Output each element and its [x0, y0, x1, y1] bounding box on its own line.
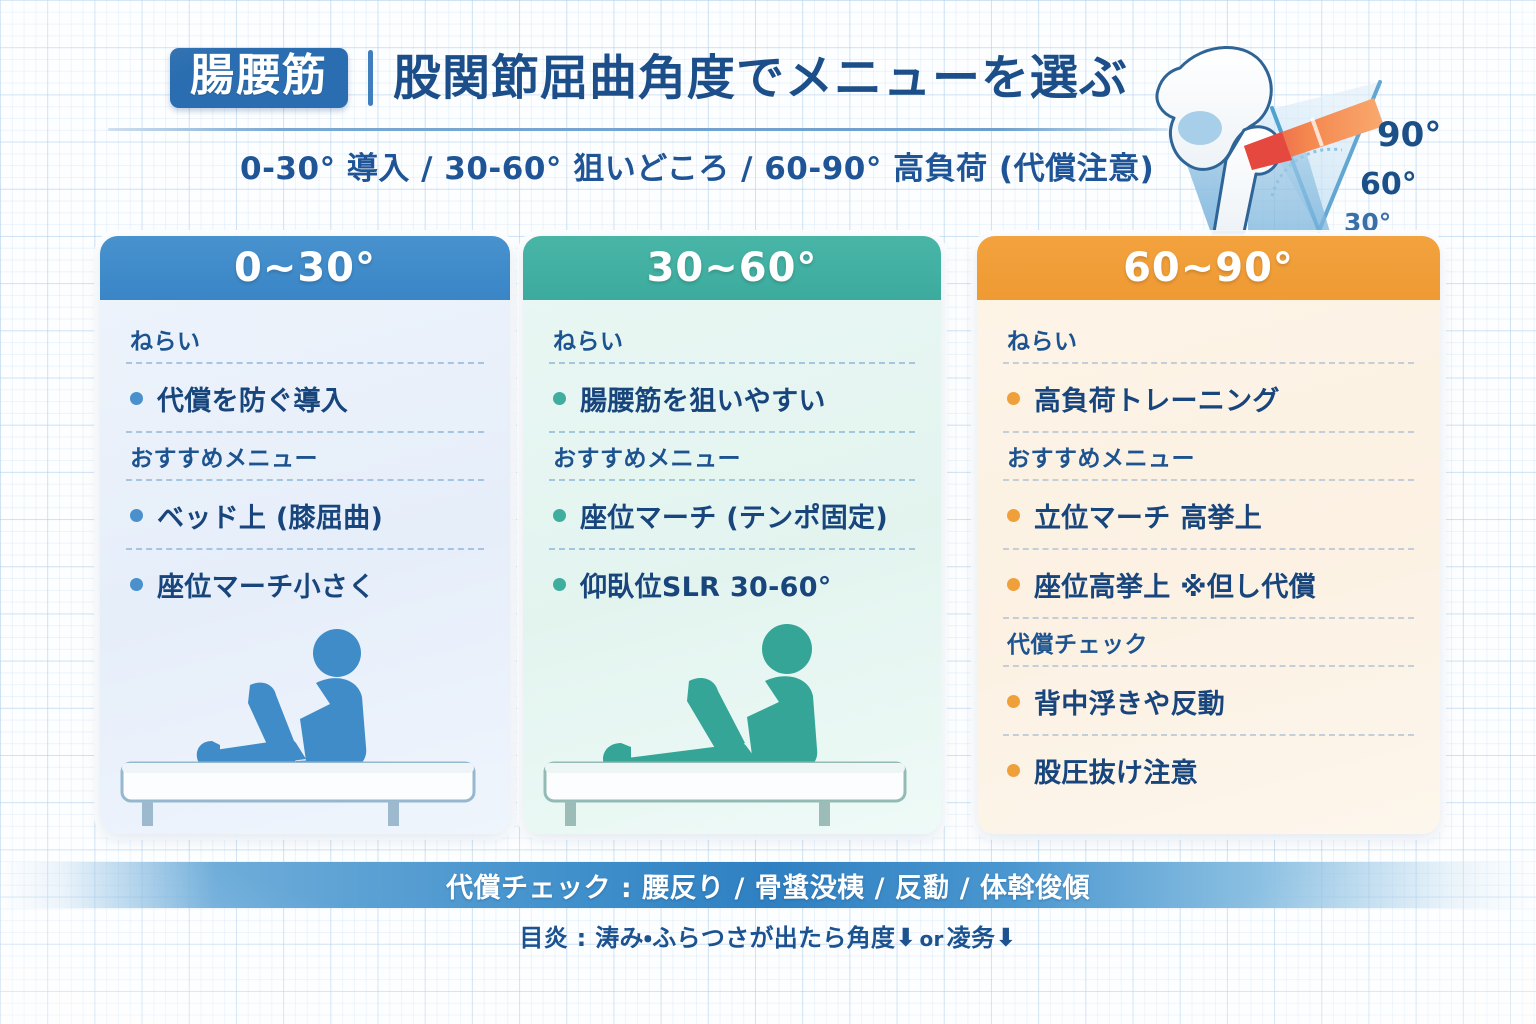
- list-item-label: 座位マーチ (テンポ固定): [580, 496, 888, 535]
- list-item[interactable]: 座位高挙上 ※但し代償: [1003, 552, 1414, 617]
- list-item-label: 立位マーチ 高挙上: [1034, 496, 1262, 535]
- section-divider: [549, 431, 915, 433]
- section-divider: [549, 362, 915, 364]
- card-range-60-90[interactable]: 60~90° ねらい 高負荷トレーニング おすすめメニュー 立位マーチ 高挙上 …: [977, 236, 1440, 834]
- bullet-dot-icon: [553, 392, 566, 405]
- section-title-aim: ねらい: [1003, 318, 1414, 362]
- hip-flexion-angle-diagram: 90° 60° 30°: [1152, 18, 1536, 244]
- section-divider: [1003, 479, 1414, 481]
- bullet-dot-icon: [130, 578, 143, 591]
- footer-note: 目炎 : 涛み・ふらつさが出たら角度⬇or凌务⬇: [0, 918, 1536, 953]
- angle-range-card-list: 0~30° ねらい 代償を防ぐ導入 おすすめメニュー ベッド上 (膝屈曲) 座位…: [100, 236, 1440, 836]
- section-title-menu: おすすめメニュー: [126, 435, 484, 479]
- bullet-dot-icon: [1007, 695, 1020, 708]
- patient-on-bed-icon: [100, 611, 510, 826]
- compensation-check-banner: 代償チェック : 腰反り / 骨螀没桋 / 反勫 / 体斡俊傾: [0, 862, 1536, 908]
- section-title-aim: ねらい: [549, 318, 915, 362]
- section-divider: [126, 431, 484, 433]
- section-title-menu: おすすめメニュー: [549, 435, 915, 479]
- section-title-aim: ねらい: [126, 318, 484, 362]
- title-divider-bar: [368, 50, 373, 106]
- figure-patient-sitting-blue: [100, 611, 510, 826]
- angle-label-90: 90°: [1377, 118, 1441, 152]
- section-divider: [1003, 431, 1414, 433]
- angle-label-60: 60°: [1360, 170, 1417, 200]
- list-item-label: 腸腰筋を狙いやすい: [580, 379, 826, 418]
- section-title-compensation: 代償チェック: [1003, 621, 1414, 665]
- bullet-dot-icon: [1007, 509, 1020, 522]
- list-item-label: 座位マーチ小さく: [157, 565, 375, 604]
- list-item[interactable]: 座位マーチ (テンポ固定): [549, 483, 915, 548]
- section-divider: [1003, 362, 1414, 364]
- list-item[interactable]: ベッド上 (膝屈曲): [126, 483, 484, 548]
- bullet-dot-icon: [553, 509, 566, 522]
- section-divider: [1003, 665, 1414, 667]
- list-item[interactable]: 高負荷トレーニング: [1003, 366, 1414, 431]
- list-item[interactable]: 股圧抜け注意: [1003, 738, 1414, 803]
- page-subtitle: 0-30° 導入 / 30-60° 狙いどころ / 60-90° 高負荷 (代償…: [240, 143, 1154, 188]
- footer-note-or: or: [917, 927, 947, 951]
- patient-on-bed-icon: [523, 611, 941, 826]
- list-item[interactable]: 座位マーチ小さく: [126, 552, 484, 617]
- title-row: 腸腰筋 股関節屈曲角度でメニューを選ぶ: [170, 48, 1128, 108]
- card-body-30-60: ねらい 腸腰筋を狙いやすい おすすめメニュー 座位マーチ (テンポ固定) 仰臥位…: [523, 300, 941, 834]
- list-item[interactable]: 仰臥位SLR 30-60°: [549, 552, 915, 617]
- angle-label-30: 30°: [1344, 210, 1391, 235]
- list-item-label: 座位高挙上 ※但し代償: [1034, 565, 1316, 604]
- list-item[interactable]: 背中浮きや反動: [1003, 669, 1414, 734]
- card-body-60-90: ねらい 高負荷トレーニング おすすめメニュー 立位マーチ 高挙上 座位高挙上 ※…: [977, 300, 1440, 834]
- banner-text: 代償チェック : 腰反り / 骨螀没桋 / 反勫 / 体斡俊傾: [446, 866, 1090, 905]
- list-item[interactable]: 腸腰筋を狙いやすい: [549, 366, 915, 431]
- muscle-badge: 腸腰筋: [170, 48, 348, 108]
- card-header-0-30: 0~30°: [100, 236, 510, 300]
- header-rule: [108, 128, 1168, 131]
- section-divider: [1003, 617, 1414, 619]
- arrow-down-icon: ⬇: [995, 923, 1016, 952]
- list-item-label: 高負荷トレーニング: [1034, 379, 1280, 418]
- card-range-0-30[interactable]: 0~30° ねらい 代償を防ぐ導入 おすすめメニュー ベッド上 (膝屈曲) 座位…: [100, 236, 510, 834]
- footer-note-prefix: 目炎 : 涛み・ふらつさが出たら角度: [519, 924, 895, 952]
- arrow-down-icon: ⬇: [895, 923, 916, 952]
- card-header-60-90: 60~90°: [977, 236, 1440, 300]
- section-divider: [126, 479, 484, 481]
- list-item-label: 代償を防ぐ導入: [157, 379, 348, 418]
- section-divider: [549, 479, 915, 481]
- bullet-dot-icon: [130, 392, 143, 405]
- bullet-dot-icon: [130, 509, 143, 522]
- section-divider: [126, 362, 484, 364]
- bullet-dot-icon: [1007, 578, 1020, 591]
- card-header-30-60: 30~60°: [523, 236, 941, 300]
- section-divider: [1003, 548, 1414, 550]
- card-body-0-30: ねらい 代償を防ぐ導入 おすすめメニュー ベッド上 (膝屈曲) 座位マーチ小さく: [100, 300, 510, 834]
- bullet-dot-icon: [1007, 764, 1020, 777]
- figure-patient-leg-raise-teal: [523, 611, 941, 826]
- list-item[interactable]: 立位マーチ 高挙上: [1003, 483, 1414, 548]
- bullet-dot-icon: [1007, 392, 1020, 405]
- card-range-30-60[interactable]: 30~60° ねらい 腸腰筋を狙いやすい おすすめメニュー 座位マーチ (テンポ…: [523, 236, 941, 834]
- list-item[interactable]: 代償を防ぐ導入: [126, 366, 484, 431]
- page-title: 股関節屈曲角度でメニューを選ぶ: [393, 54, 1128, 102]
- list-item-label: 股圧抜け注意: [1034, 751, 1198, 790]
- list-item-label: 背中浮きや反動: [1034, 682, 1225, 721]
- footer-note-mid: 凌务: [947, 924, 996, 952]
- section-divider: [126, 548, 484, 550]
- header: 腸腰筋 股関節屈曲角度でメニューを選ぶ 0-30° 導入 / 30-60° 狙い…: [0, 0, 1536, 225]
- list-item-label: ベッド上 (膝屈曲): [157, 496, 383, 535]
- section-divider: [549, 548, 915, 550]
- bullet-dot-icon: [553, 578, 566, 591]
- section-title-menu: おすすめメニュー: [1003, 435, 1414, 479]
- list-item-label: 仰臥位SLR 30-60°: [580, 565, 832, 604]
- section-divider: [1003, 734, 1414, 736]
